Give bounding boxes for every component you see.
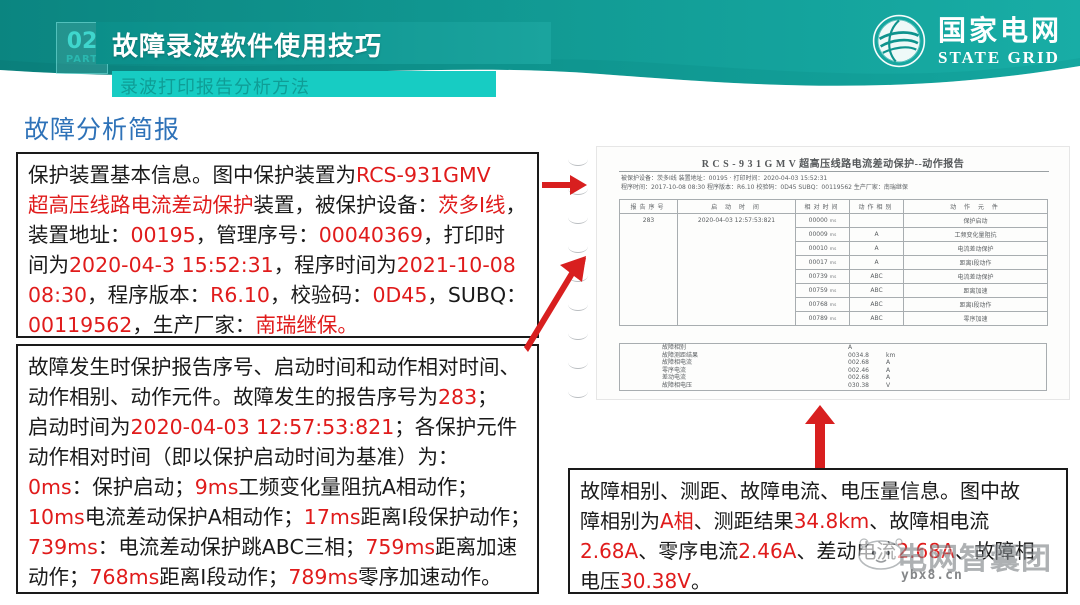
- report-table-body: 2832020-04-03 12:57:53:82100000 ms保护启动00…: [620, 214, 1048, 326]
- report-summary-row: 差动电流002.68A: [620, 374, 1046, 382]
- highlight-text: 2.46A: [738, 539, 796, 563]
- element-cell: 电流差动保护: [904, 270, 1048, 284]
- phase-cell: A: [850, 228, 904, 242]
- highlight-text: 0D45: [372, 283, 427, 307]
- body-text: 、测距结果: [694, 509, 794, 533]
- body-text: ：电流差动保护跳ABC三相；: [98, 535, 366, 559]
- ms-unit: ms: [830, 233, 837, 238]
- body-text: 距离I段动作；: [159, 565, 288, 589]
- element-cell: 距离加速: [904, 284, 1048, 298]
- body-text: ，生产厂家：: [132, 313, 255, 337]
- body-text: 间为: [28, 253, 69, 277]
- body-text: 动作；: [28, 565, 90, 589]
- report-table-header-row: 报告序号启 动 时 间相对时间动作相别动 作 元 件: [620, 200, 1048, 214]
- highlight-text: 34.8km: [794, 509, 870, 533]
- relative-time-cell: 00789 ms: [796, 312, 850, 326]
- highlight-text: 30.38V: [620, 569, 691, 593]
- report-summary: 故障相别A故障测距结果0034.8km故障相电流002.68A零序电流002.4…: [619, 343, 1047, 391]
- text-line: 10ms电流差动保护A相动作；17ms距离I段保护动作；: [28, 502, 529, 532]
- relative-time-cell: 00739 ms: [796, 270, 850, 284]
- state-grid-logo: 国家电网 STATE GRID: [872, 14, 1062, 68]
- report-column-header: 动 作 元 件: [904, 200, 1048, 214]
- red-arrow-diagonal-up-right: [524, 252, 596, 356]
- scan-tick-mark: [568, 216, 588, 224]
- relative-time-cell: 00009 ms: [796, 228, 850, 242]
- phase-cell: ABC: [850, 312, 904, 326]
- element-cell: 保护启动: [904, 214, 1048, 228]
- text-line: 保护装置基本信息。图中保护装置为RCS-931GMV: [28, 160, 529, 190]
- body-text: ：保护启动；: [72, 475, 195, 499]
- report-meta-line: 被保护设备：茨多I线 装置地址：00195 · 打印时间：2020-04-03 …: [621, 175, 1051, 184]
- text-line: 08:30，程序版本：R6.10，校验码：0D45，SUBQ：: [28, 280, 529, 310]
- text-line: 装置地址：00195，管理序号：00040369，打印时: [28, 220, 529, 250]
- summary-label: 差动电流: [662, 374, 686, 382]
- element-cell: 工频变化量阻抗: [904, 228, 1048, 242]
- body-text: 、故障相: [955, 539, 1035, 563]
- slide-header: 02 PART 故障录波软件使用技巧 录波打印报告分析方法 国家电网 STATE…: [0, 0, 1080, 100]
- element-cell: 距离Ⅰ段动作: [904, 256, 1048, 270]
- highlight-text: 茨多I线: [438, 193, 506, 217]
- body-text: 、差动电流: [796, 539, 896, 563]
- summary-unit: km: [886, 352, 895, 360]
- body-text: 装置地址：: [28, 223, 131, 247]
- body-text: ，: [506, 193, 527, 217]
- text-line: 动作；768ms距离I段动作；789ms零序加速动作。: [28, 562, 529, 592]
- phase-cell: ABC: [850, 270, 904, 284]
- report-meta: 被保护设备：茨多I线 装置地址：00195 · 打印时间：2020-04-03 …: [621, 175, 1051, 192]
- ms-unit: ms: [830, 317, 837, 322]
- text-line: 故障相别、测距、故障电流、电压量信息。图中故: [580, 476, 1058, 506]
- summary-value: 030.38: [848, 382, 869, 390]
- red-arrow-up: [800, 402, 840, 470]
- body-text: 工频变化量阻抗A相动作；: [238, 475, 478, 499]
- ms-unit: ms: [830, 275, 837, 280]
- element-cell: 零序加速: [904, 312, 1048, 326]
- report-title: R C S - 9 3 1 G M V 超高压线路电流差动保护--动作报告: [597, 155, 1069, 170]
- report-column-header: 报告序号: [620, 200, 678, 214]
- ms-unit: ms: [830, 303, 837, 308]
- body-text: 距离加速: [435, 535, 517, 559]
- highlight-text: 2.68A: [580, 539, 638, 563]
- body-text: 、故障相电流: [869, 509, 989, 533]
- protection-device-info-box: 保护装置基本信息。图中保护装置为RCS-931GMV超高压线路电流差动保护装置，…: [16, 152, 539, 338]
- body-text: ，打印时: [423, 223, 505, 247]
- text-line: 故障发生时保护报告序号、启动时间和动作相对时间、: [28, 352, 529, 382]
- body-text: 距离I段保护动作；: [361, 505, 531, 529]
- ms-unit: ms: [830, 289, 837, 294]
- text-line: 电压30.38V。: [580, 566, 1058, 596]
- report-title-rule: [619, 171, 1049, 172]
- highlight-text: R6.10: [210, 283, 270, 307]
- text-line: 00119562，生产厂家：南瑞继保。: [28, 310, 529, 340]
- body-text: 保护装置基本信息。图中保护装置为: [28, 163, 356, 187]
- slide-root: 02 PART 故障录波软件使用技巧 录波打印报告分析方法 国家电网 STATE…: [0, 0, 1080, 605]
- text-line: 障相别为A相、测距结果34.8km、故障相电流: [580, 506, 1058, 536]
- ms-unit: ms: [830, 261, 837, 266]
- body-text: ，程序时间为: [274, 253, 397, 277]
- relative-time-cell: 00010 ms: [796, 242, 850, 256]
- text-line: 启动时间为2020-04-03 12:57:53:821；各保护元件: [28, 412, 529, 442]
- highlight-text: 2.68A: [896, 539, 954, 563]
- text-line: 动作相别、动作元件。故障发生的报告序号为283；: [28, 382, 529, 412]
- text-line: 动作相对时间（即以保护启动时间为基准）为：: [28, 442, 529, 472]
- summary-label: 故障相别: [662, 344, 686, 352]
- highlight-text: 2021-10-08: [397, 253, 516, 277]
- body-text: ，SUBQ：: [427, 283, 526, 307]
- scan-tick-mark: [568, 158, 588, 166]
- highlight-text: 00195: [131, 223, 196, 247]
- fault-report-sequence-box: 故障发生时保护报告序号、启动时间和动作相对时间、动作相别、动作元件。故障发生的报…: [16, 344, 539, 594]
- phase-cell: A: [850, 242, 904, 256]
- body-text: ，管理序号：: [196, 223, 319, 247]
- fault-measurement-box: 故障相别、测距、故障电流、电压量信息。图中故障相别为A相、测距结果34.8km、…: [568, 468, 1068, 594]
- highlight-text: A相: [660, 509, 694, 533]
- body-text: ，校验码：: [270, 283, 373, 307]
- body-text: 动作相别、动作元件。故障发生的报告序号为: [28, 385, 438, 409]
- body-text: 启动时间为: [28, 415, 131, 439]
- summary-value: 002.46: [848, 367, 869, 375]
- header-title: 故障录波软件使用技巧: [112, 26, 382, 63]
- highlight-text: 759ms: [365, 535, 435, 559]
- body-text: 电压: [580, 569, 620, 593]
- logo-english-name: STATE GRID: [938, 49, 1062, 66]
- phase-cell: ABC: [850, 284, 904, 298]
- phase-cell: A: [850, 256, 904, 270]
- part-number: 02: [67, 31, 98, 53]
- phase-cell: ABC: [850, 298, 904, 312]
- text-line: 间为2020-04-3 15:52:31，程序时间为2021-10-08: [28, 250, 529, 280]
- body-text: 障相别为: [580, 509, 660, 533]
- summary-unit: A: [886, 367, 890, 375]
- highlight-text: 739ms: [28, 535, 98, 559]
- relative-time-cell: 00759 ms: [796, 284, 850, 298]
- report-no-cell: 283: [620, 214, 678, 326]
- rcs-931gmv-action-report: R C S - 9 3 1 G M V 超高压线路电流差动保护--动作报告 被保…: [596, 146, 1070, 400]
- text-line: 0ms：保护启动；9ms工频变化量阻抗A相动作；: [28, 472, 529, 502]
- highlight-text: 2020-04-03 12:57:53:821: [131, 415, 395, 439]
- report-summary-row: 故障相别A: [620, 344, 1046, 352]
- relative-time-cell: 00000 ms: [796, 214, 850, 228]
- body-text: 。: [691, 569, 711, 593]
- body-text: 零序加速动作。: [358, 565, 502, 589]
- part-label: PART: [66, 55, 98, 65]
- summary-unit: A: [886, 359, 890, 367]
- report-table: 报告序号启 动 时 间相对时间动作相别动 作 元 件 2832020-04-03…: [619, 199, 1048, 326]
- summary-label: 故障相电流: [662, 359, 692, 367]
- text-line: 2.68A、零序电流2.46A、差动电流2.68A、故障相: [580, 536, 1058, 566]
- element-cell: 距离Ⅰ段动作: [904, 298, 1048, 312]
- scan-tick-mark: [568, 361, 588, 369]
- report-column-header: 动作相别: [850, 200, 904, 214]
- highlight-text: 00119562: [28, 313, 132, 337]
- text-line: 超高压线路电流差动保护装置，被保护设备：茨多I线，: [28, 190, 529, 220]
- highlight-text: 17ms: [304, 505, 361, 529]
- summary-value: 002.68: [848, 359, 869, 367]
- logo-chinese-name: 国家电网: [938, 17, 1062, 45]
- page-title: 故障分析简报: [24, 110, 180, 146]
- summary-unit: A: [886, 374, 890, 382]
- red-arrow-right: [540, 168, 590, 202]
- highlight-text: 08:30: [28, 283, 87, 307]
- header-subtitle: 录波打印报告分析方法: [120, 73, 310, 99]
- highlight-text: 0ms: [28, 475, 72, 499]
- highlight-text: 南瑞继保。: [255, 313, 358, 337]
- report-summary-row: 故障相电流002.68A: [620, 359, 1046, 367]
- start-time-cell: 2020-04-03 12:57:53:821: [678, 214, 796, 326]
- body-text: 故障发生时保护报告序号、启动时间和动作相对时间、: [28, 355, 520, 379]
- element-cell: 电流差动保护: [904, 242, 1048, 256]
- body-text: ，程序版本：: [87, 283, 210, 307]
- summary-value: 0034.8: [848, 352, 869, 360]
- report-column-header: 启 动 时 间: [678, 200, 796, 214]
- phase-cell: [850, 214, 904, 228]
- highlight-text: 283: [438, 385, 477, 409]
- text-line: 739ms：电流差动保护跳ABC三相；759ms距离加速: [28, 532, 529, 562]
- highlight-text: 00040369: [319, 223, 423, 247]
- ms-unit: ms: [830, 247, 837, 252]
- ms-unit: ms: [830, 219, 837, 224]
- highlight-text: 10ms: [28, 505, 85, 529]
- relative-time-cell: 00768 ms: [796, 298, 850, 312]
- body-text: 、零序电流: [638, 539, 738, 563]
- body-text: ；各保护元件: [394, 415, 517, 439]
- summary-label: 故障相电压: [662, 382, 692, 390]
- body-text: 装置，被保护设备：: [254, 193, 439, 217]
- summary-unit: V: [886, 382, 890, 390]
- body-text: 故障相别、测距、故障电流、电压量信息。图中故: [580, 479, 1020, 503]
- summary-value: A: [848, 344, 852, 352]
- scan-tick-mark: [568, 390, 588, 398]
- highlight-text: 2020-04-3 15:52:31: [69, 253, 274, 277]
- body-text: 电流差动保护A相动作；: [85, 505, 304, 529]
- state-grid-globe-icon: [872, 14, 926, 68]
- body-text: ；: [477, 385, 498, 409]
- state-grid-wordmark: 国家电网 STATE GRID: [938, 17, 1062, 66]
- highlight-text: 9ms: [195, 475, 239, 499]
- report-summary-row: 故障相电压030.38V: [620, 382, 1046, 390]
- body-text: 动作相对时间（即以保护启动时间为基准）为：: [28, 445, 459, 469]
- relative-time-cell: 00017 ms: [796, 256, 850, 270]
- highlight-text: RCS-931GMV: [356, 163, 491, 187]
- summary-value: 002.68: [848, 374, 869, 382]
- report-column-header: 相对时间: [796, 200, 850, 214]
- highlight-text: 超高压线路电流差动保护: [28, 193, 254, 217]
- report-table-row: 2832020-04-03 12:57:53:82100000 ms保护启动: [620, 214, 1048, 228]
- highlight-text: 768ms: [90, 565, 160, 589]
- highlight-text: 789ms: [288, 565, 358, 589]
- report-meta-line: 程序时间：2017-10-08 08:30 程序版本：R6.10 校验码：0D4…: [621, 184, 1051, 193]
